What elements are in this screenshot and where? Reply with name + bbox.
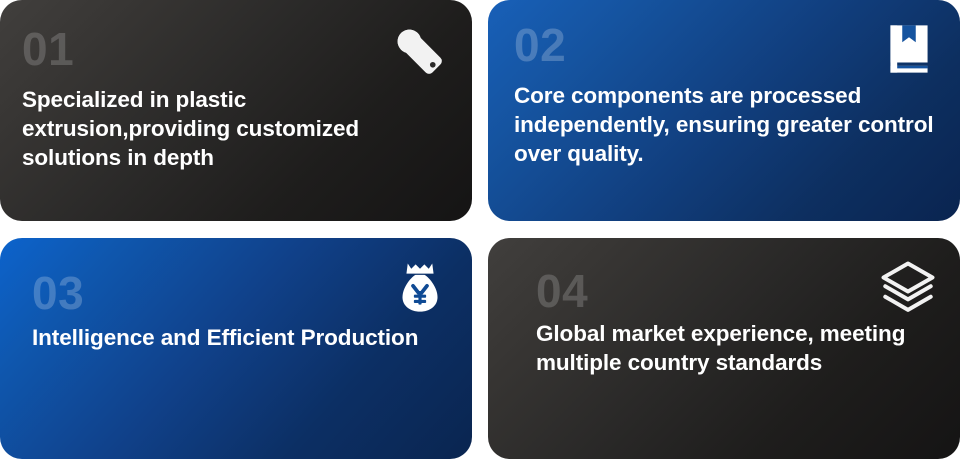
card-title: Global market experience, meeting multip… bbox=[536, 320, 934, 378]
feature-card-grid: 01 Specialized in plastic extrusion,prov… bbox=[0, 0, 960, 459]
feature-card-03[interactable]: 03 Intelligence and Efficient Production bbox=[0, 238, 472, 459]
card-number: 04 bbox=[536, 268, 934, 314]
card-number: 01 bbox=[22, 26, 446, 72]
card-title: Intelligence and Efficient Production bbox=[32, 324, 446, 353]
feature-card-04[interactable]: 04 Global market experience, meeting mul… bbox=[488, 238, 960, 459]
card-title: Specialized in plastic extrusion,providi… bbox=[22, 86, 446, 172]
card-number: 03 bbox=[32, 270, 446, 316]
feature-card-01[interactable]: 01 Specialized in plastic extrusion,prov… bbox=[0, 0, 472, 221]
card-number: 02 bbox=[514, 22, 934, 68]
card-title: Core components are processed independen… bbox=[514, 82, 934, 168]
feature-card-02[interactable]: 02 Core components are processed indepen… bbox=[488, 0, 960, 221]
